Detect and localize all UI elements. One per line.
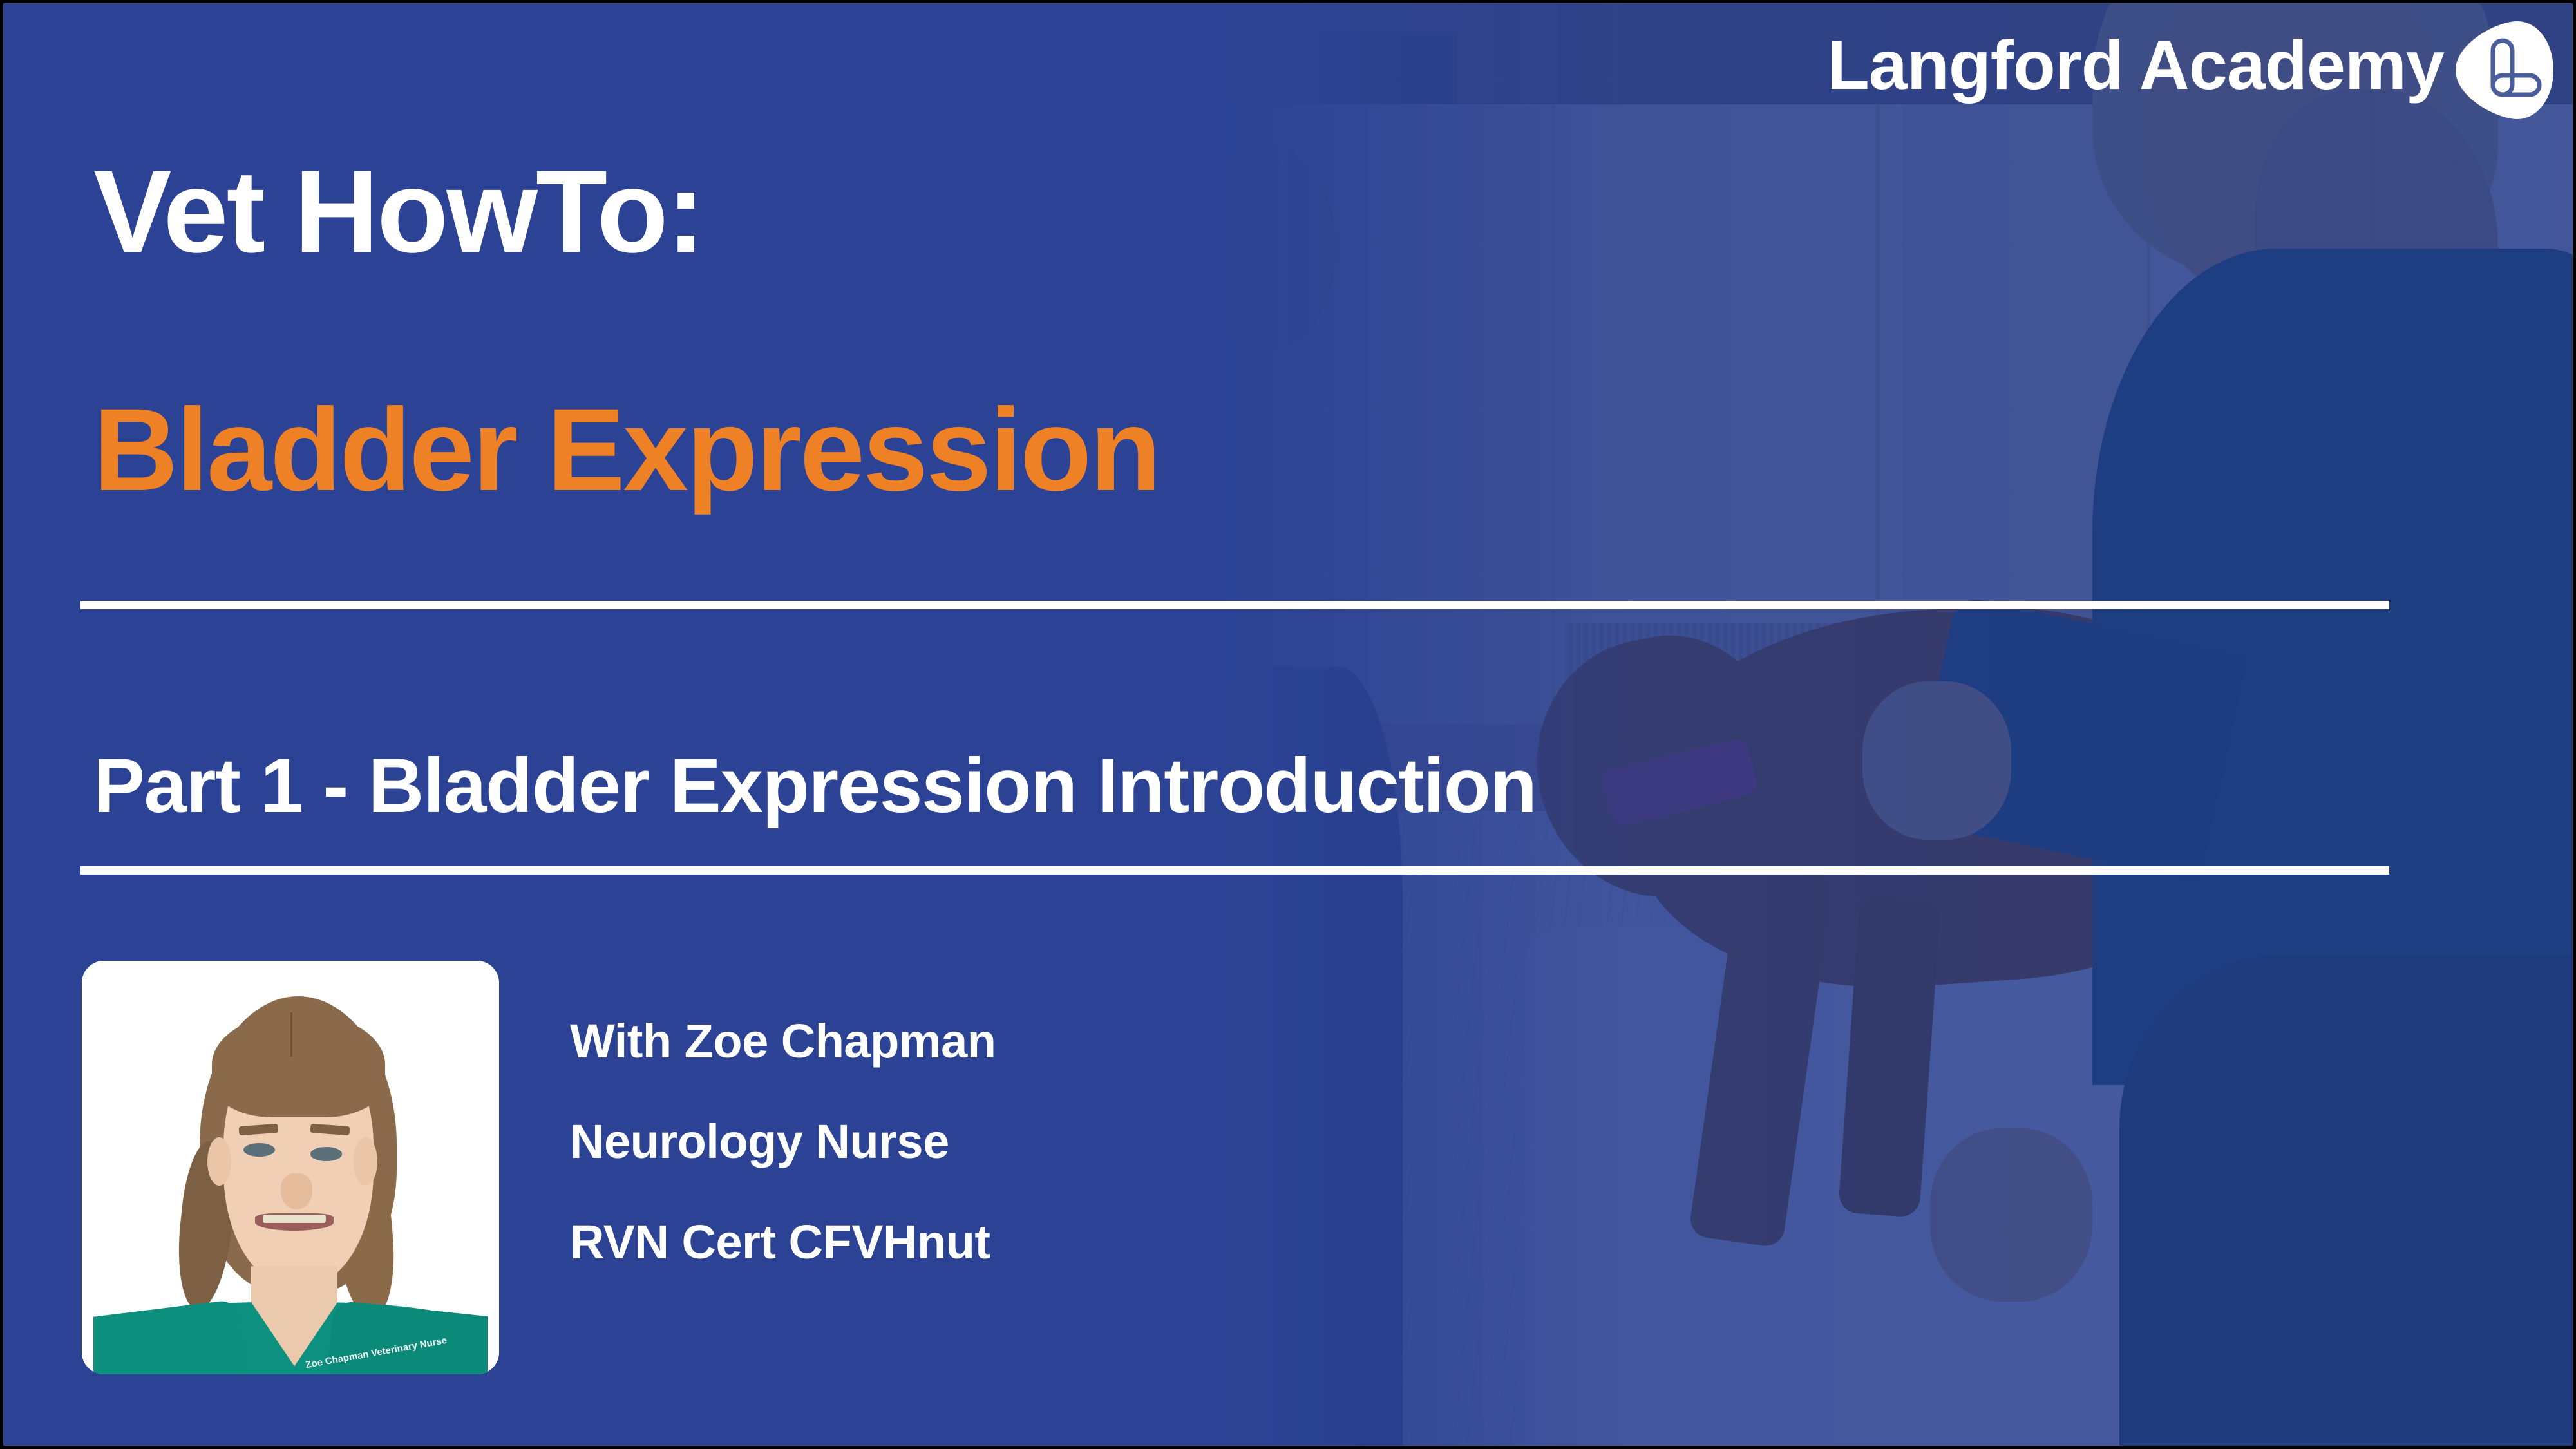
- langford-leaf-l-logo-icon: [2456, 21, 2553, 119]
- presenter-role: Neurology Nurse: [570, 1118, 996, 1166]
- presenter-portrait-photo: Zoe Chapman Veterinary Nurse: [93, 972, 488, 1374]
- title-line-2: Bladder Expression: [93, 391, 1159, 508]
- presenter-qualifications: RVN Cert CFVHnut: [570, 1218, 996, 1266]
- title-line-1: Vet HowTo:: [93, 153, 703, 270]
- thumbnail-canvas: Langford Academy Vet HowTo: Bladder Expr…: [3, 3, 2573, 1446]
- presenter-name: With Zoe Chapman: [570, 1018, 996, 1065]
- subtitle: Part 1 - Bladder Expression Introduction: [93, 747, 1536, 824]
- brand-name: Langford Academy: [1827, 30, 2444, 100]
- presenter-portrait-card: Zoe Chapman Veterinary Nurse: [82, 961, 499, 1374]
- presenter-details: With Zoe Chapman Neurology Nurse RVN Cer…: [570, 1018, 996, 1266]
- divider-top: [80, 601, 2389, 609]
- divider-bottom: [80, 866, 2389, 875]
- video-thumbnail: Langford Academy Vet HowTo: Bladder Expr…: [0, 0, 2576, 1449]
